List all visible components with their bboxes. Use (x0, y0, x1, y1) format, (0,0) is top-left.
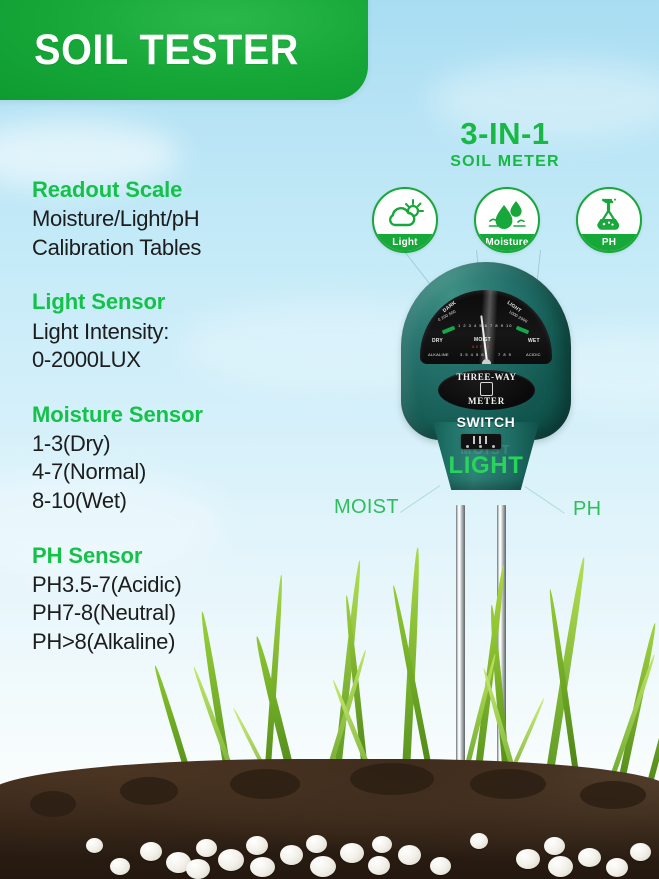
fertilizer-pellet (310, 856, 336, 877)
dial-scale-moisture: 1 2 3 4 5 6 7 8 9 10 (458, 323, 512, 328)
fertilizer-pellet (372, 836, 392, 853)
selected-mode-label: LIGHT (398, 452, 574, 480)
product-infographic: SOIL TESTER Readout Scale Moisture/Light… (0, 0, 659, 879)
fertilizer-pellet (250, 857, 275, 877)
three-way-top-text: THREE-WAY (438, 372, 535, 382)
dial-label-alkaline: ALKALINE (428, 352, 449, 357)
three-way-bottom-text: METER (438, 396, 535, 406)
fertilizer-pellet (86, 838, 103, 853)
fertilizer-pellet (470, 833, 488, 849)
product-title-sub: SOIL METER (360, 153, 650, 171)
feature-badge-light[interactable]: Light (372, 187, 438, 253)
product-title-main: 3-IN-1 (360, 118, 650, 151)
mode-switch[interactable] (461, 434, 501, 449)
fertilizer-pellet (548, 856, 573, 877)
callout-ph: PH (573, 498, 601, 521)
dial-scale-ph-right: 7 8 9 (498, 352, 512, 357)
fertilizer-pellet (516, 849, 540, 869)
fertilizer-pellet (140, 842, 162, 861)
fertilizer-pellet (606, 858, 628, 877)
spec-line: 8-10(Wet) (32, 487, 332, 516)
feature-badge-moisture[interactable]: Moisture (474, 187, 540, 253)
spec-block-moisture-sensor: Moisture Sensor 1-3(Dry) 4-7(Normal) 8-1… (32, 401, 332, 516)
feature-icon-row: Light Moisture (372, 187, 642, 253)
fertilizer-pellet (196, 839, 217, 857)
water-droplet-icon (476, 195, 538, 233)
soil-meter-device: MOIST DARK 0 200 500 LIGHT 1000 2000 1 2… (398, 262, 574, 510)
feature-label-ph: PH (578, 234, 640, 251)
dial-label-wet: WET (528, 338, 540, 344)
fertilizer-pellet (246, 836, 268, 855)
soil-clod (580, 781, 646, 809)
fertilizer-pellet (398, 845, 421, 865)
dial-scale-ph-center: 6.5 7 7.5 (472, 344, 489, 349)
fertilizer-pellet (306, 835, 327, 853)
sun-cloud-icon (374, 195, 436, 233)
fertilizer-pellet (218, 849, 244, 871)
soil-clod (120, 777, 178, 805)
dial-label-acidic: ACIDIC (526, 352, 541, 357)
spec-line: Moisture/Light/pH (32, 205, 332, 234)
spec-line: 4-7(Normal) (32, 458, 332, 487)
callout-moist: MOIST (334, 496, 399, 519)
header-banner: SOIL TESTER (0, 0, 368, 100)
switch-label: SWITCH (398, 414, 574, 430)
page-title: SOIL TESTER (0, 14, 299, 75)
fertilizer-pellet (630, 843, 651, 861)
fertilizer-pellet (110, 858, 130, 875)
spec-heading: Moisture Sensor (32, 401, 332, 429)
spec-block-light-sensor: Light Sensor Light Intensity: 0-2000LUX (32, 288, 332, 374)
dial-arc-segment (442, 326, 456, 335)
soil-clod (470, 769, 546, 799)
spec-heading: Light Sensor (32, 288, 332, 316)
soil-clod (230, 769, 300, 799)
fertilizer-pellet (186, 859, 210, 879)
fertilizer-pellet (578, 848, 601, 867)
feature-label-moisture: Moisture (476, 234, 538, 251)
spec-line: Calibration Tables (32, 234, 332, 263)
soil-clod (350, 763, 434, 795)
dial-needle-hub (482, 359, 491, 364)
spec-block-readout-scale: Readout Scale Moisture/Light/pH Calibrat… (32, 176, 332, 262)
spec-heading: Readout Scale (32, 176, 332, 204)
spec-line: 0-2000LUX (32, 346, 332, 375)
fertilizer-pellet (368, 856, 390, 875)
fertilizer-pellet (544, 837, 565, 855)
soil-clod (30, 791, 76, 817)
fertilizer-pellet (280, 845, 303, 865)
grass-soil-scene (0, 519, 659, 879)
fertilizer-pellet (430, 857, 451, 875)
feature-badge-ph[interactable]: PH (576, 187, 642, 253)
spec-line: Light Intensity: (32, 318, 332, 347)
dial-arc-segment (516, 326, 530, 335)
dial-label-dry: DRY (432, 338, 443, 344)
meter-glyph-icon (480, 382, 493, 396)
spec-line: 1-3(Dry) (32, 430, 332, 459)
feature-label-light: Light (374, 234, 436, 251)
fertilizer-pellet (340, 843, 364, 863)
flask-icon (578, 195, 640, 233)
product-title-group: 3-IN-1 SOIL METER (360, 118, 650, 171)
three-way-badge: THREE-WAY METER (438, 370, 535, 410)
dial-scale-ph-left: 3.5 4 5 6 (460, 352, 485, 357)
